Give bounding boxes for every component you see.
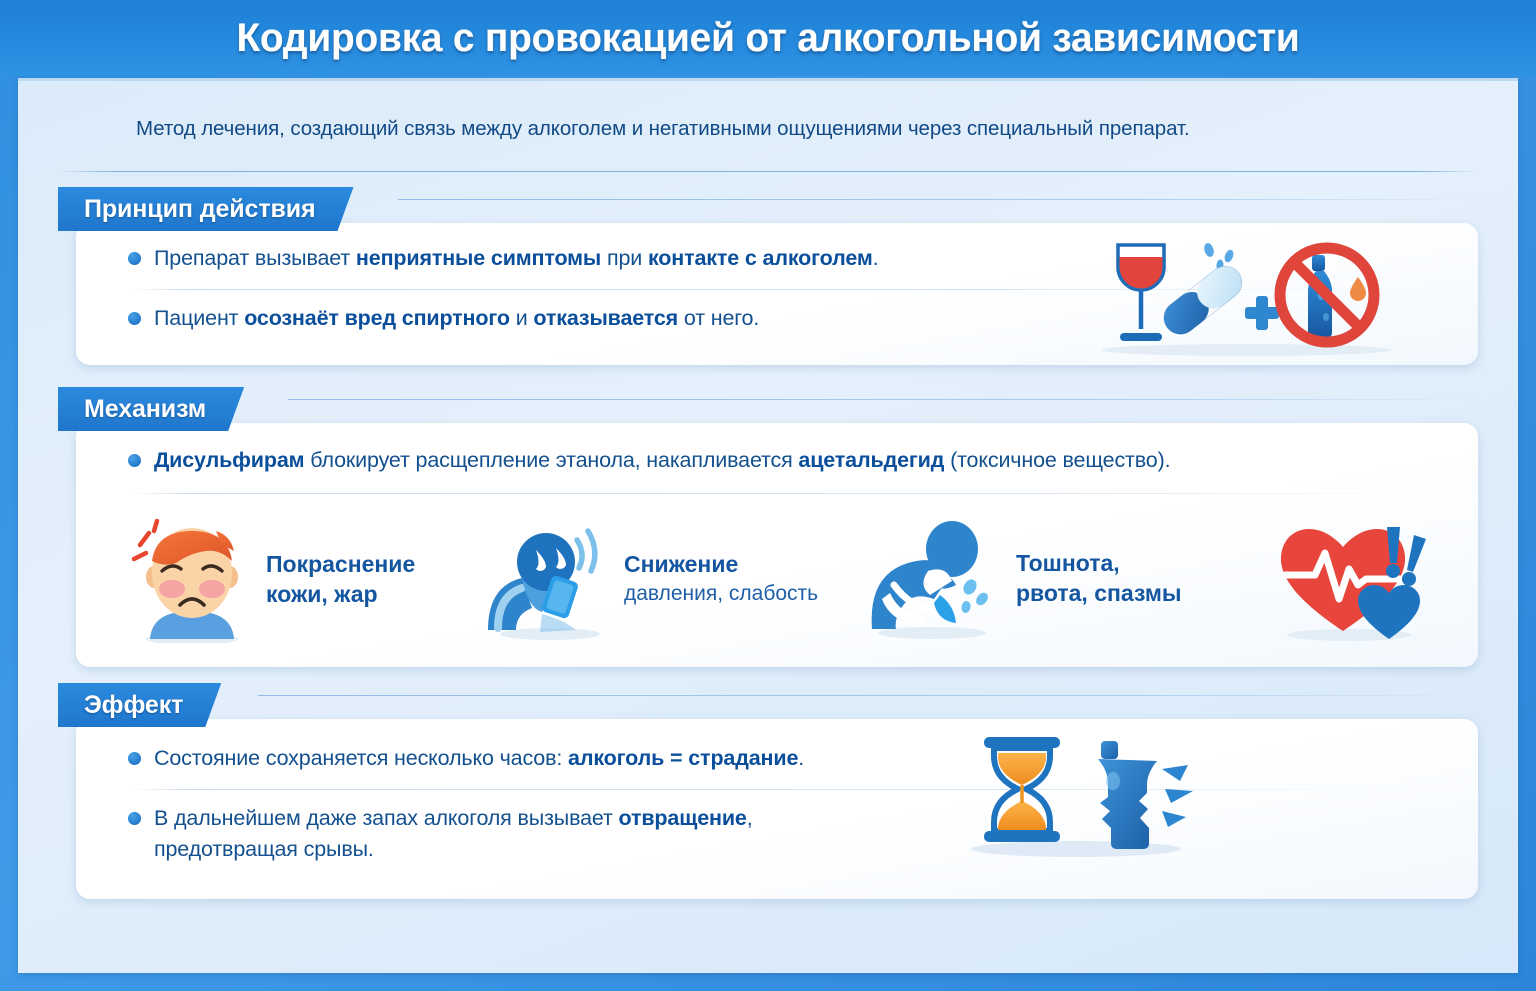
- flushed-face-icon: [128, 515, 256, 643]
- bullet-dot-icon: [128, 312, 141, 325]
- bullet-divider-mechanism: [128, 493, 1428, 494]
- tab-rule-principle: [398, 199, 1478, 200]
- bullet-mechanism-1-text: Дисульфирам блокирует расщепление этанол…: [154, 445, 1170, 476]
- bullet-dot-icon: [128, 454, 141, 467]
- symptom-heart-alert: [1271, 513, 1436, 643]
- heat-lines-icon: [134, 521, 157, 559]
- symptom-low-pressure-label: Снижение давления, слабость: [624, 549, 818, 609]
- bullet-dot-icon: [128, 752, 141, 765]
- exclamation-icon: [1386, 527, 1426, 586]
- section-tab-effect[interactable]: Эффект: [58, 683, 221, 727]
- vomiting-person-icon: [866, 515, 1006, 640]
- bullet-principle-2: Пациент осознаёт вред спиртного и отказы…: [128, 303, 1028, 334]
- bullet-principle-2-text: Пациент осознаёт вред спиртного и отказы…: [154, 303, 759, 334]
- broken-bottle-icon: [1098, 741, 1193, 849]
- infographic-poster: Кодировка с провокацией от алкогольной з…: [0, 0, 1536, 991]
- wine-glass-icon: [1118, 245, 1164, 341]
- bullet-effect-2-text: В дальнейшем даже запах алкоголя вызывае…: [154, 803, 753, 865]
- section-tab-principle[interactable]: Принцип действия: [58, 187, 354, 231]
- bullet-dot-icon: [128, 812, 141, 825]
- bullet-dot-icon: [128, 252, 141, 265]
- sparkle-icon: [1203, 242, 1235, 271]
- card-mechanism: Дисульфирам блокирует расщепление этанол…: [76, 423, 1478, 667]
- tab-rule-mechanism: [288, 399, 1478, 400]
- symptom-nausea: Тошнота, рвота, спазмы: [866, 515, 1181, 640]
- shard-icon: [1162, 765, 1193, 827]
- splash-icon: [961, 577, 991, 614]
- section-tab-mechanism[interactable]: Механизм: [58, 387, 244, 431]
- pill-capsule-icon: [1157, 259, 1248, 340]
- symptom-flushed-skin-label: Покраснение кожи, жар: [266, 549, 415, 609]
- bullet-effect-1-text: Состояние сохраняется несколько часов: а…: [154, 743, 804, 774]
- card-principle: Препарат вызывает неприятные симптомы пр…: [76, 223, 1478, 365]
- tab-rule-effect: [258, 695, 1478, 696]
- dizzy-person-icon: [484, 518, 614, 640]
- symptom-flushed-skin: Покраснение кожи, жар: [128, 515, 415, 643]
- intro-text: Метод лечения, создающий связь между алк…: [136, 117, 1456, 141]
- title-band: Кодировка с провокацией от алкогольной з…: [0, 0, 1536, 76]
- intro-divider: [58, 171, 1478, 172]
- section-principle: Принцип действия Препарат вызывает непри…: [58, 187, 1478, 367]
- content-panel: Метод лечения, создающий связь между алк…: [18, 78, 1518, 973]
- bullet-mechanism-1: Дисульфирам блокирует расщепление этанол…: [128, 445, 1408, 476]
- no-alcohol-icon: [1280, 248, 1374, 342]
- hourglass-icon: [984, 737, 1060, 842]
- heartbeat-alert-icon: [1271, 513, 1436, 643]
- section-effect: Эффект Состояние сохраняется несколько ч…: [58, 683, 1478, 898]
- bullet-effect-1: Состояние сохраняется несколько часов: а…: [128, 743, 1028, 774]
- page-title: Кодировка с провокацией от алкогольной з…: [236, 16, 1299, 61]
- bullet-effect-2: В дальнейшем даже запах алкоголя вызывае…: [128, 803, 1028, 865]
- symptom-nausea-label: Тошнота, рвота, спазмы: [1016, 548, 1181, 608]
- card-effect: Состояние сохраняется несколько часов: а…: [76, 719, 1478, 899]
- bullet-principle-1: Препарат вызывает неприятные симптомы пр…: [128, 243, 1028, 274]
- wineglass-pill-banned-bottle-illustration: [1096, 229, 1406, 359]
- section-mechanism: Механизм Дисульфирам блокирует расщеплен…: [58, 387, 1478, 669]
- symptom-low-pressure: Снижение давления, слабость: [484, 518, 818, 640]
- hourglass-broken-bottle-illustration: [956, 723, 1206, 858]
- dizzy-waves-icon: [577, 531, 595, 571]
- plus-icon: [1245, 296, 1279, 330]
- bullet-principle-1-text: Препарат вызывает неприятные симптомы пр…: [154, 243, 878, 274]
